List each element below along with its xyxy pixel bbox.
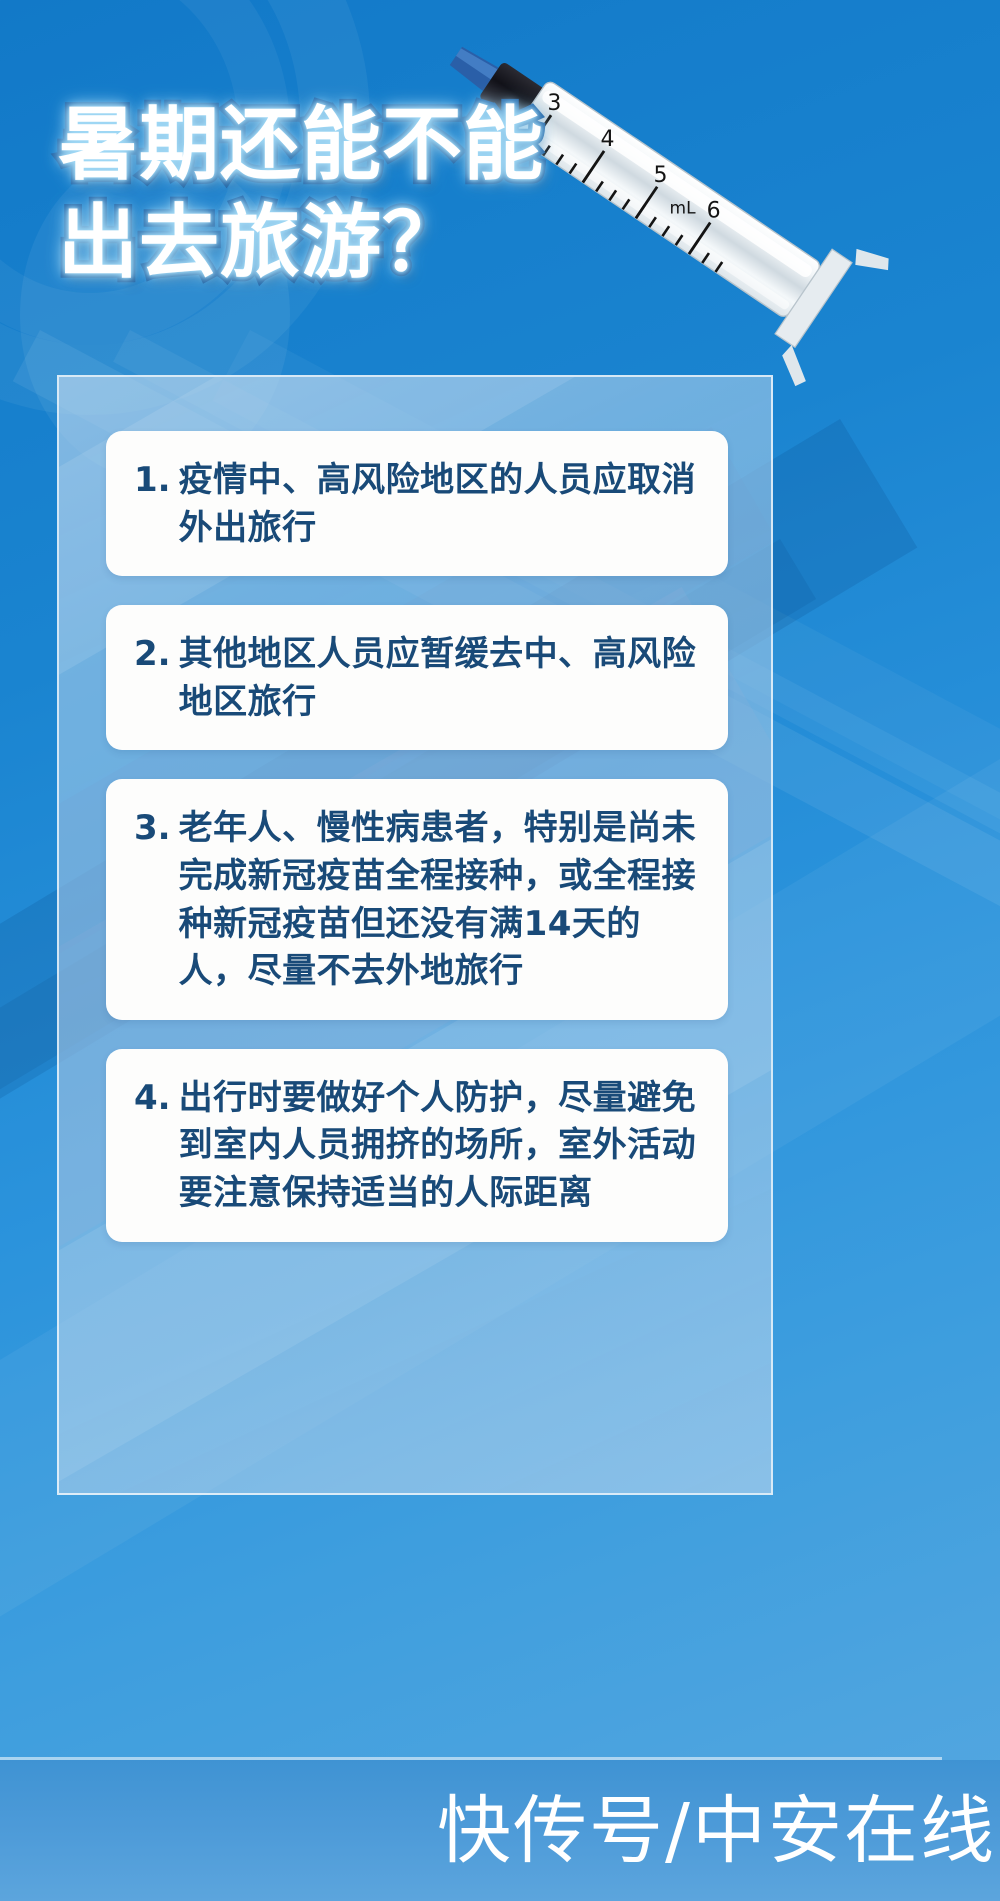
list-item-text: 老年人、慢性病患者，特别是尚未完成新冠疫苗全程接种，或全程接种新冠疫苗但还没有满… [179, 805, 698, 995]
list-item-number: 1. [134, 457, 171, 505]
list-item-text: 疫情中、高风险地区的人员应取消外出旅行 [179, 457, 698, 552]
title-line-2: 出去旅游？ [58, 194, 544, 292]
footer-divider [0, 1757, 942, 1760]
list-item: 4. 出行时要做好个人防护，尽量避免到室内人员拥挤的场所，室外活动要注意保持适当… [106, 1049, 728, 1242]
syringe-scale-5: 5 [654, 163, 668, 188]
syringe-scale-6: 6 [707, 199, 721, 224]
footer-bar: 快传号/中安在线 [0, 1760, 1000, 1901]
list-item-number: 3. [134, 805, 171, 853]
list-item-text: 其他地区人员应暂缓去中、高风险地区旅行 [179, 631, 698, 726]
syringe-scale-4: 4 [600, 127, 614, 152]
list-item: 1. 疫情中、高风险地区的人员应取消外出旅行 [106, 431, 728, 576]
syringe-scale-ml: mL [670, 199, 697, 219]
list-item-number: 4. [134, 1075, 171, 1123]
page-title: 暑期还能不能 出去旅游？ [58, 96, 544, 291]
list-item: 3. 老年人、慢性病患者，特别是尚未完成新冠疫苗全程接种，或全程接种新冠疫苗但还… [106, 779, 728, 1019]
list-item-number: 2. [134, 631, 171, 679]
content-panel: 1. 疫情中、高风险地区的人员应取消外出旅行 2. 其他地区人员应暂缓去中、高风… [57, 375, 773, 1495]
advice-list: 1. 疫情中、高风险地区的人员应取消外出旅行 2. 其他地区人员应暂缓去中、高风… [106, 431, 728, 1271]
list-item-text: 出行时要做好个人防护，尽量避免到室内人员拥挤的场所，室外活动要注意保持适当的人际… [179, 1075, 698, 1218]
footer-source-text: 快传号/中安在线 [437, 1794, 1000, 1868]
list-item: 2. 其他地区人员应暂缓去中、高风险地区旅行 [106, 605, 728, 750]
poster-root: 3 4 5 mL 6 暑期还能不能 出去旅游？ 1. 疫情中、高风险地区的人员应… [0, 0, 1000, 1901]
title-line-1: 暑期还能不能 [58, 96, 544, 194]
syringe-scale-3: 3 [547, 91, 561, 116]
